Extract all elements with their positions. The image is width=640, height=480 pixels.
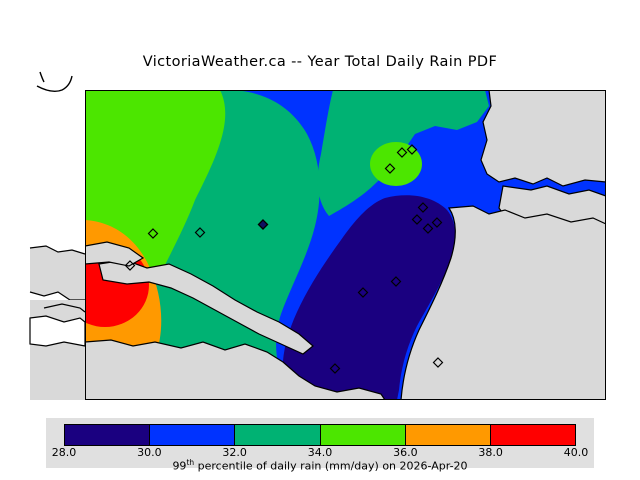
colorbar-band-36-38 — [406, 425, 491, 445]
caption-suffix: percentile of daily rain (mm/day) on 202… — [194, 460, 467, 473]
colorbar-band-30-32 — [150, 425, 235, 445]
contour-map — [85, 90, 606, 400]
colorbar-band-34-36 — [321, 425, 406, 445]
colorbar-band-28-30 — [65, 425, 150, 445]
weather-map-page: VictoriaWeather.ca -- Year Total Daily R… — [0, 0, 640, 480]
colorbar-band-38-40 — [491, 425, 575, 445]
colorbar-caption: 99th percentile of daily rain (mm/day) o… — [0, 458, 640, 473]
caption-prefix: 99 — [172, 460, 186, 473]
colorbar-band-32-34 — [235, 425, 320, 445]
land-northeast — [481, 90, 606, 186]
caption-superscript: th — [186, 458, 194, 467]
page-title: VictoriaWeather.ca -- Year Total Daily R… — [0, 54, 640, 70]
band-34-36-ne-blob — [370, 142, 422, 186]
colorbar — [64, 424, 576, 446]
